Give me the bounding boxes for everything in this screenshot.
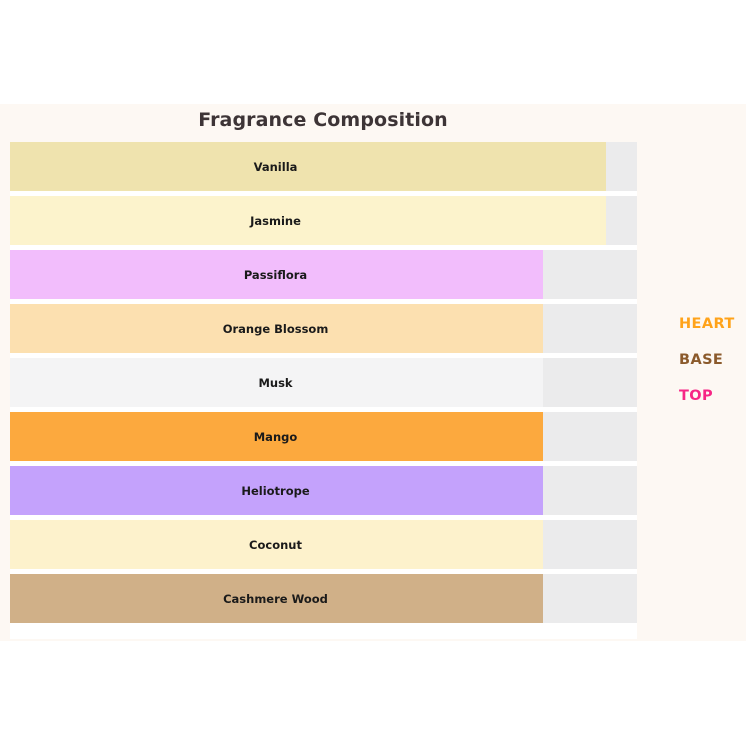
bar-musk[interactable]: Musk <box>10 358 543 407</box>
bar-jasmine[interactable]: Jasmine <box>10 196 606 245</box>
bar-label: Musk <box>258 376 292 390</box>
chart-legend: HEARTBASETOP <box>660 104 746 641</box>
bar-orange-blossom[interactable]: Orange Blossom <box>10 304 543 353</box>
legend-item-top[interactable]: TOP <box>679 388 713 404</box>
chart-figure: Fragrance Composition VanillaJasminePass… <box>0 104 746 641</box>
bar-coconut[interactable]: Coconut <box>10 520 543 569</box>
bar-label: Heliotrope <box>241 484 309 498</box>
bar-label: Vanilla <box>254 160 298 174</box>
bar-mango[interactable]: Mango <box>10 412 543 461</box>
chart-title: Fragrance Composition <box>0 109 646 131</box>
legend-item-base[interactable]: BASE <box>679 352 723 368</box>
bar-label: Mango <box>254 430 298 444</box>
bar-vanilla[interactable]: Vanilla <box>10 142 606 191</box>
bar-label: Cashmere Wood <box>223 592 328 606</box>
bar-cashmere-wood[interactable]: Cashmere Wood <box>10 574 543 623</box>
bar-label: Orange Blossom <box>223 322 329 336</box>
legend-item-heart[interactable]: HEART <box>679 316 735 332</box>
plot-area: VanillaJasminePassifloraOrange BlossomMu… <box>10 142 637 639</box>
bar-passiflora[interactable]: Passiflora <box>10 250 543 299</box>
bar-label: Jasmine <box>250 214 301 228</box>
bar-heliotrope[interactable]: Heliotrope <box>10 466 543 515</box>
bar-label: Coconut <box>249 538 302 552</box>
bar-label: Passiflora <box>244 268 307 282</box>
